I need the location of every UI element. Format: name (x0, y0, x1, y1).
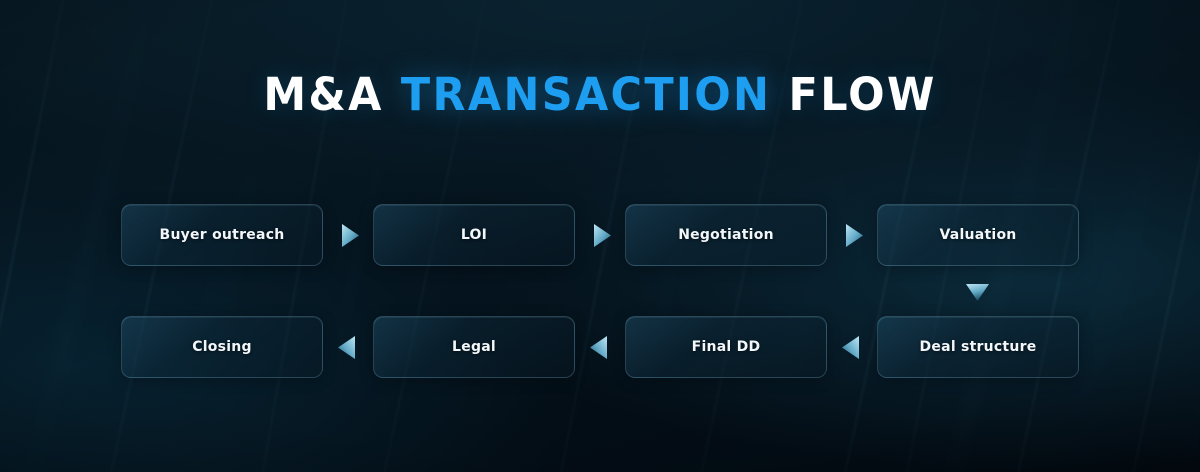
flow-card-valuation[interactable]: Valuation (877, 204, 1079, 266)
flow-card-closing[interactable]: Closing (121, 316, 323, 378)
page-title: M&A TRANSACTION FLOW (0, 70, 1200, 120)
flow-card-legal[interactable]: Legal (373, 316, 575, 378)
flow-card-loi[interactable]: LOI (373, 204, 575, 266)
arrow-left-icon (590, 336, 607, 359)
arrow-left-icon (338, 336, 355, 359)
arrow-left-icon (842, 336, 859, 359)
flow-card-negotiation[interactable]: Negotiation (625, 204, 827, 266)
arrow-down-icon (966, 284, 989, 301)
flow-card-label: Closing (192, 339, 252, 355)
page-title-part-2: FLOW (771, 68, 936, 121)
flow-card-label: Legal (452, 339, 496, 355)
flow-card-label: Negotiation (678, 227, 774, 243)
page-title-part-1: M&A (263, 68, 401, 121)
diagram-canvas: M&A TRANSACTION FLOW Buyer outreach LOI … (0, 0, 1200, 472)
flow-card-buyer-outreach[interactable]: Buyer outreach (121, 204, 323, 266)
arrow-right-icon (342, 224, 359, 247)
arrow-right-icon (846, 224, 863, 247)
flow-card-label: Deal structure (920, 339, 1037, 355)
flow-card-final-dd[interactable]: Final DD (625, 316, 827, 378)
flow-card-label: Valuation (939, 227, 1016, 243)
arrow-right-icon (594, 224, 611, 247)
flow-card-label: Buyer outreach (160, 227, 285, 243)
flow-card-label: LOI (461, 227, 487, 243)
flow-card-deal-structure[interactable]: Deal structure (877, 316, 1079, 378)
flow-card-label: Final DD (692, 339, 761, 355)
page-title-part-accent: TRANSACTION (401, 68, 771, 121)
